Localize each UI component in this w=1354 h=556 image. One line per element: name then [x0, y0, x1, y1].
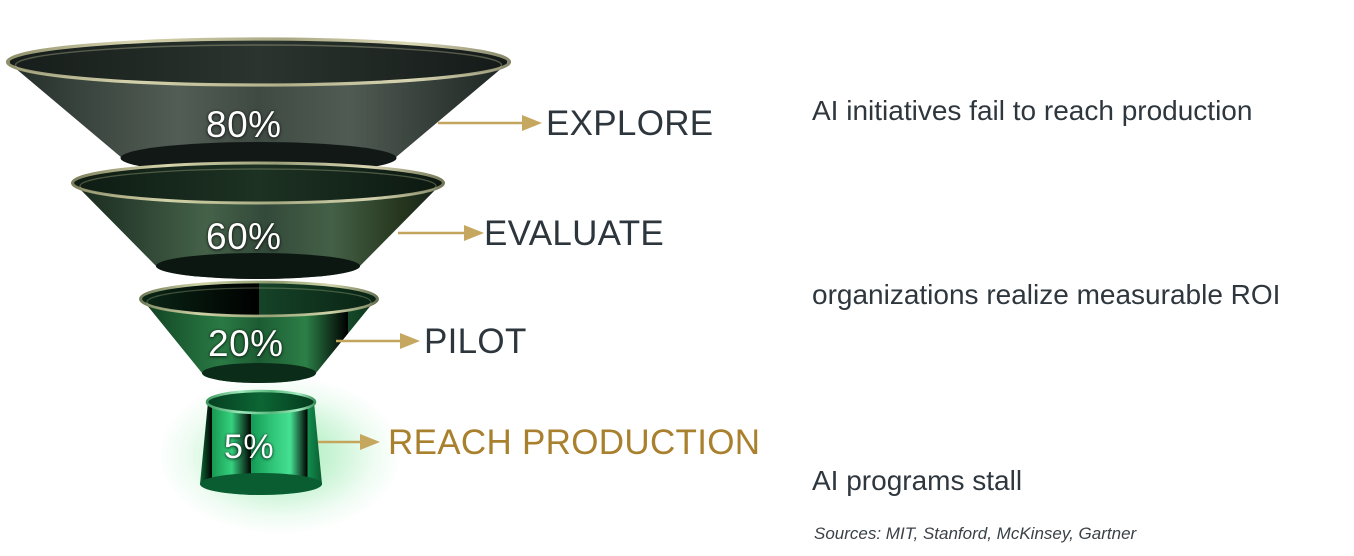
funnel-percent-explore: 80%: [206, 104, 282, 146]
stats-panel: 90-95% AI initiatives fail to reach prod…: [806, 0, 1354, 556]
arrow-pilot-icon: [336, 330, 420, 357]
funnel-percent-pilot: 20%: [208, 323, 284, 365]
funnel-label-explore: EXPLORE: [546, 104, 713, 144]
stat-block-1: 90-95% AI initiatives fail to reach prod…: [812, 28, 1252, 128]
stat-value-3: >50%: [812, 390, 1022, 450]
arrow-reach-production-icon: [318, 431, 380, 458]
stat-value-2: ~12%: [812, 196, 1280, 256]
stat-description-3: AI programs stall: [812, 464, 1022, 498]
arrow-explore-icon: [438, 112, 542, 139]
funnel-label-pilot: PILOT: [424, 322, 527, 362]
funnel-label-reach-production: REACH PRODUCTION: [388, 423, 760, 463]
funnel-stage-reach-production[interactable]: 5%: [196, 390, 326, 500]
funnel-percent-reach-production: 5%: [224, 428, 274, 467]
stat-block-3: >50% AI programs stall: [812, 390, 1022, 498]
funnel-label-evaluate: EVALUATE: [484, 214, 664, 254]
arrow-evaluate-icon: [398, 222, 484, 249]
stat-block-2: ~12% organizations realize measurable RO…: [812, 196, 1280, 312]
stat-value-1: 90-95%: [812, 28, 1252, 88]
funnel-percent-evaluate: 60%: [206, 216, 282, 258]
stat-description-2: organizations realize measurable ROI: [812, 278, 1280, 312]
sources-note: Sources: MIT, Stanford, McKinsey, Gartne…: [814, 524, 1136, 544]
stat-description-1: AI initiatives fail to reach production: [812, 94, 1252, 128]
funnel-stage-evaluate[interactable]: 60%: [72, 164, 444, 286]
funnel-stage-explore[interactable]: 80%: [6, 40, 511, 180]
funnel-chart: 80%: [0, 0, 790, 556]
